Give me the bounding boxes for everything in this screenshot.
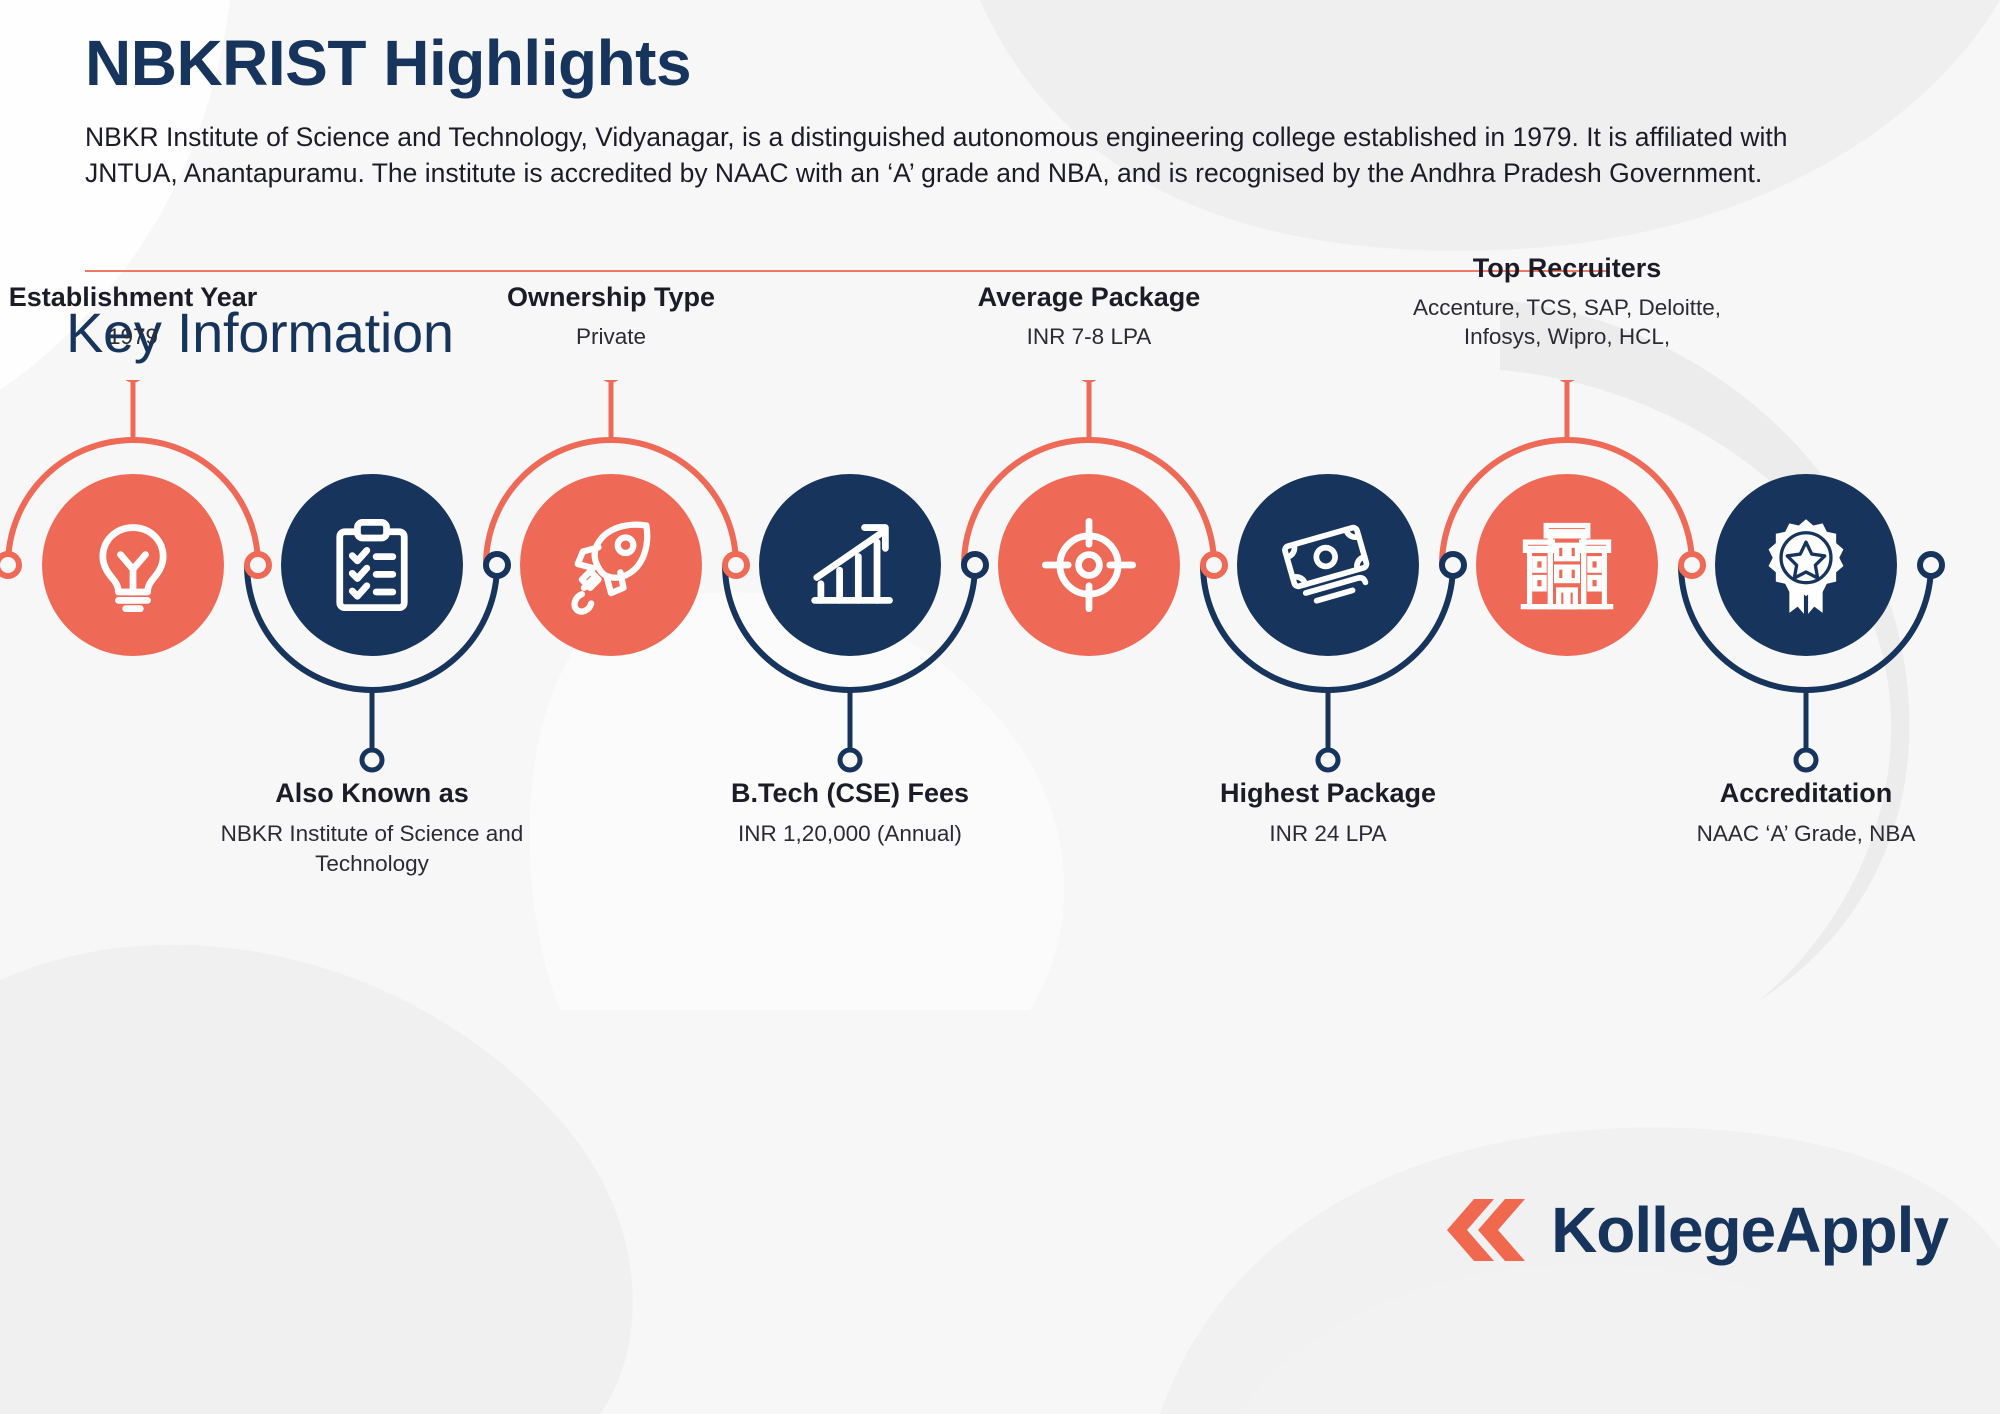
timeline-label-value: Private [446, 322, 776, 352]
header: NBKRIST Highlights NBKR Institute of Sci… [85, 28, 1835, 191]
connector-node [725, 554, 747, 576]
timeline-item-circle[interactable] [42, 474, 224, 656]
circle-background [281, 474, 463, 656]
label-stem-node [1318, 750, 1338, 770]
page-title: NBKRIST Highlights [85, 28, 1835, 98]
label-stem-node [362, 750, 382, 770]
timeline-item-circle[interactable] [1237, 474, 1419, 656]
timeline-label-value: INR 7-8 LPA [924, 322, 1254, 352]
circle-background [520, 474, 702, 656]
connector-node [1442, 554, 1464, 576]
timeline-item-circle[interactable] [1476, 474, 1658, 656]
timeline-item-circle[interactable] [281, 474, 463, 656]
connector-node [1920, 554, 1942, 576]
timeline-item-circle[interactable] [1715, 474, 1897, 656]
timeline-label: Ownership TypePrivate [446, 282, 776, 352]
connector-node [0, 554, 19, 576]
page-title-suffix: Highlights [383, 27, 691, 99]
header-divider [85, 270, 1607, 272]
connector-node [247, 554, 269, 576]
timeline-graphic [0, 380, 2000, 940]
timeline-label: Top RecruitersAccenture, TCS, SAP, Deloi… [1402, 253, 1732, 352]
timeline-label-title: Top Recruiters [1402, 253, 1732, 285]
timeline-label-title: Average Package [924, 282, 1254, 314]
connector-node [1681, 554, 1703, 576]
timeline-label-title: Ownership Type [446, 282, 776, 314]
page-description: NBKR Institute of Science and Technology… [85, 120, 1825, 190]
page-title-brand: NBKRIST [85, 27, 366, 99]
connector-node [964, 554, 986, 576]
circle-background [759, 474, 941, 656]
label-stem-node [840, 750, 860, 770]
timeline-label-value: Accenture, TCS, SAP, Deloitte, Infosys, … [1402, 293, 1732, 352]
brand-logo[interactable]: KollegeApply [1441, 1191, 1948, 1269]
circle-background [998, 474, 1180, 656]
double-chevron-icon [1441, 1191, 1529, 1269]
infographic-canvas: NBKRIST Highlights NBKR Institute of Sci… [0, 0, 2000, 1414]
section-title: Key Information [66, 300, 454, 365]
brand-logo-text: KollegeApply [1551, 1198, 1948, 1262]
timeline-label: Average PackageINR 7-8 LPA [924, 282, 1254, 352]
timeline-item-circle[interactable] [520, 474, 702, 656]
timeline-item-circle[interactable] [759, 474, 941, 656]
label-stem-node [1796, 750, 1816, 770]
connector-node [1203, 554, 1225, 576]
timeline-item-circle[interactable] [998, 474, 1180, 656]
connector-node [486, 554, 508, 576]
